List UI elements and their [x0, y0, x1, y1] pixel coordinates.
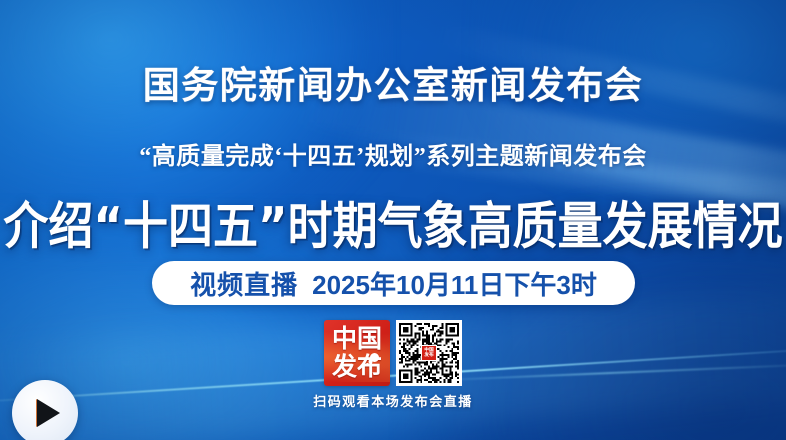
page-title: 国务院新闻办公室新闻发布会 [0, 55, 786, 109]
play-button[interactable] [12, 380, 78, 440]
china-release-logo: 中国 发布 [324, 320, 390, 386]
footer-logo-qr-row: 中国 发布 中国 发布 [324, 320, 462, 386]
live-broadcast-badge[interactable]: 视频直播 2025年10月11日下午3时 [152, 261, 635, 305]
play-icon [37, 399, 60, 427]
scan-instruction-caption: 扫码观看本场发布会直播 [313, 391, 473, 410]
microphone-icon [370, 353, 379, 362]
topic-headline: 介绍“十四五”时期气象高质量发展情况 [0, 185, 786, 258]
qr-code-center-logo: 中国 发布 [421, 345, 437, 361]
live-broadcast-label: 视频直播 [190, 265, 298, 302]
live-broadcast-datetime: 2025年10月11日下午3时 [312, 265, 597, 302]
footer-block: 中国 发布 中国 发布 扫码观看本场发布会直播 [0, 320, 786, 410]
qr-code[interactable]: 中国 发布 [396, 320, 462, 386]
series-subtitle: “高质量完成‘十四五’规划”系列主题新闻发布会 [0, 136, 786, 171]
news-conference-poster: 国务院新闻办公室新闻发布会 “高质量完成‘十四五’规划”系列主题新闻发布会 介绍… [0, 0, 786, 440]
logo-text-line-1: 中国 [332, 327, 382, 352]
qr-center-line-2: 发布 [424, 353, 434, 358]
